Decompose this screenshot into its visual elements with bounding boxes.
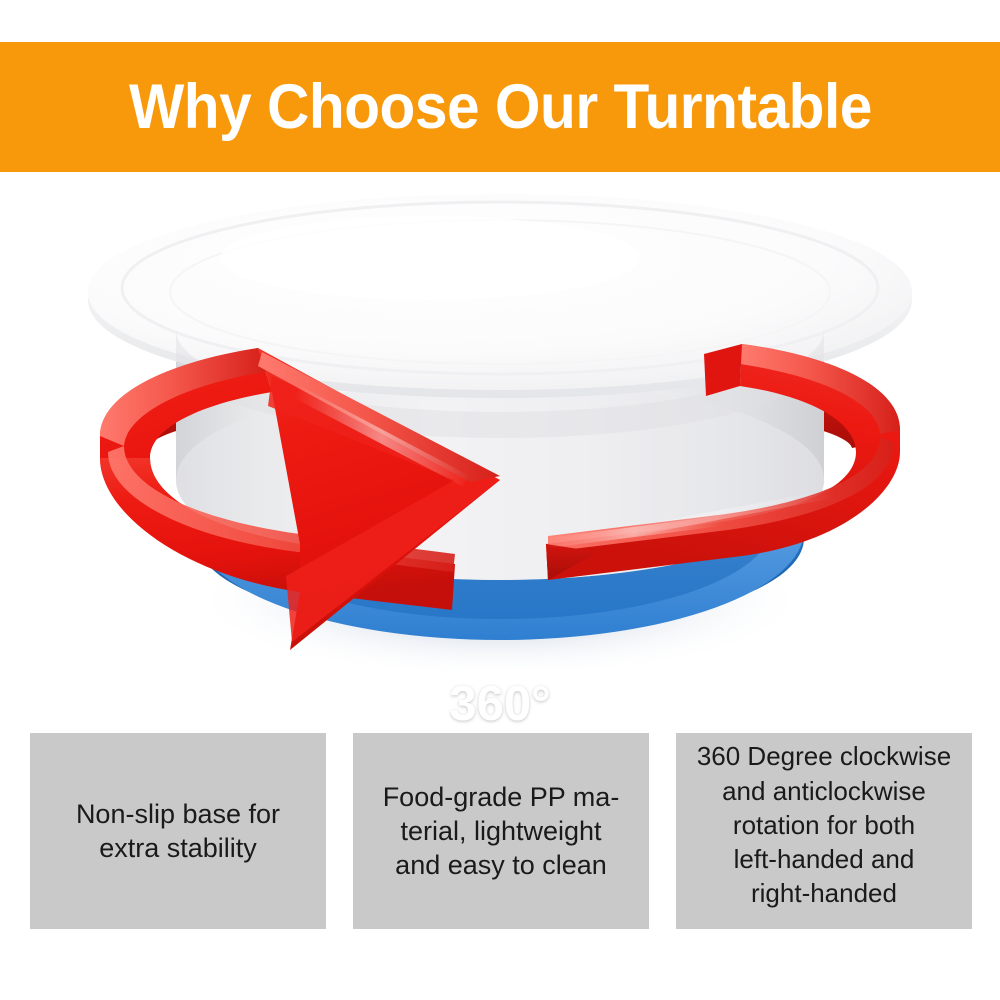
feature-list: Non-slip base for extra stability Food-g… — [30, 733, 972, 929]
feature-text: Non-slip base for extra stability — [70, 797, 286, 865]
feature-text: Food-grade PP ma- terial, lightweight an… — [377, 780, 626, 882]
feature-box-rotation-direction: 360 Degree clockwise and anticlockwise r… — [676, 733, 972, 929]
page-title: Why Choose Our Turntable — [129, 76, 872, 139]
turntable-illustration — [0, 180, 1000, 700]
feature-box-non-slip-base: Non-slip base for extra stability — [30, 733, 326, 929]
product-hero-image: 360° — [0, 180, 1000, 700]
feature-text: 360 Degree clockwise and anticlockwise r… — [691, 739, 957, 911]
header-banner: Why Choose Our Turntable — [0, 42, 1000, 172]
feature-box-food-grade-material: Food-grade PP ma- terial, lightweight an… — [353, 733, 649, 929]
